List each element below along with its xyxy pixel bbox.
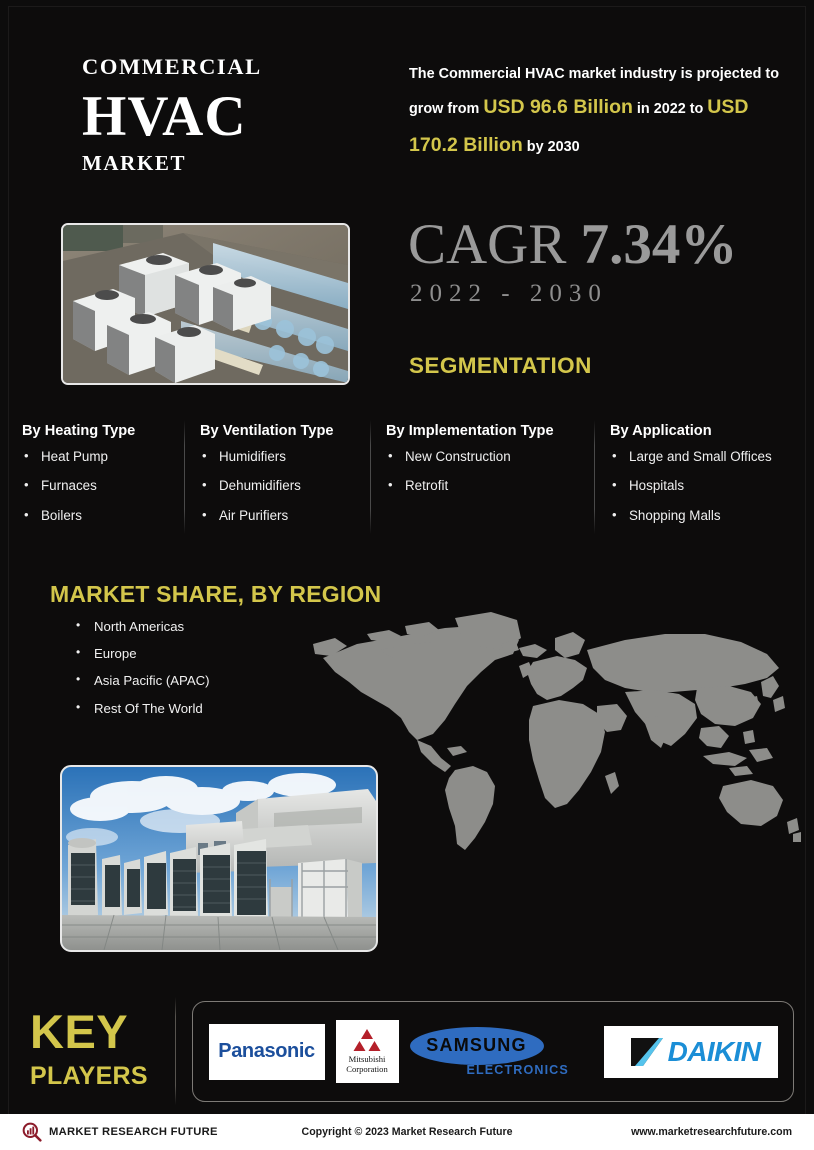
cagr-value: 7.34% (581, 213, 738, 276)
daikin-logo: DAIKIN (604, 1026, 778, 1078)
daikin-wordmark: DAIKIN (668, 1036, 761, 1068)
region-item: Europe (74, 647, 210, 660)
segment-column-ventilation-type: By Ventilation Type Humidifiers Dehumidi… (184, 423, 370, 538)
report-eyebrow: COMMERCIAL (82, 56, 382, 79)
segment-item: Furnaces (22, 479, 170, 492)
samsung-wordmark: SAMSUNG (426, 1035, 526, 1056)
cagr-period: 2022 - 2030 (410, 281, 608, 306)
segment-column-heating-type: By Heating Type Heat Pump Furnaces Boile… (22, 423, 184, 538)
footer-brand-text: MARKET RESEARCH FUTURE (49, 1126, 218, 1138)
segment-item: Boilers (22, 509, 170, 522)
segmentation-heading: SEGMENTATION (409, 353, 592, 379)
mitsubishi-wordmark: Mitsubishi Corporation (346, 1055, 388, 1074)
panasonic-logo: Panasonic (209, 1024, 325, 1080)
world-map-landmass (313, 612, 801, 850)
page-title: HVAC (82, 86, 382, 148)
daikin-flag-icon (629, 1034, 665, 1070)
market-research-future-logo-icon (22, 1122, 42, 1142)
segment-item: Dehumidifiers (200, 479, 356, 492)
cagr-headline: CAGR 7.34% (408, 216, 737, 273)
segment-item: Humidifiers (200, 450, 356, 463)
samsung-logo: SAMSUNG ELECTRONICS (410, 1021, 593, 1083)
segment-column-application: By Application Large and Small Offices H… (594, 423, 794, 538)
key-players-logo-box: Panasonic Mitsubishi Corporation SAMSUNG… (192, 1001, 794, 1102)
footer-website[interactable]: www.marketresearchfuture.com (631, 1126, 792, 1138)
segment-title: By Heating Type (22, 423, 170, 439)
segment-title: By Application (610, 423, 780, 439)
segment-item: New Construction (386, 450, 580, 463)
region-item: Rest Of The World (74, 702, 210, 715)
samsung-ellipse: SAMSUNG (410, 1027, 544, 1065)
segment-column-implementation-type: By Implementation Type New Construction … (370, 423, 594, 538)
segment-title: By Implementation Type (386, 423, 580, 439)
infographic-page: COMMERCIAL HVAC MARKET The Commercial HV… (0, 0, 814, 1150)
key-players-divider (175, 997, 176, 1105)
panasonic-wordmark: Panasonic (218, 1040, 314, 1063)
footer-copyright: Copyright © 2023 Market Research Future (302, 1126, 513, 1138)
market-summary: The Commercial HVAC market industry is p… (409, 60, 801, 164)
mitsubishi-line2: Corporation (346, 1065, 388, 1075)
rooftop-hvac-photo (60, 765, 378, 952)
cooling-towers-photo (61, 223, 350, 385)
mitsubishi-logo: Mitsubishi Corporation (336, 1020, 399, 1083)
cagr-label: CAGR (408, 213, 566, 276)
summary-value-2022: USD 96.6 Billion (483, 96, 633, 118)
samsung-electronics-text: ELECTRONICS (467, 1063, 569, 1077)
mitsubishi-diamond-icon (353, 1028, 381, 1052)
footer-brand: MARKET RESEARCH FUTURE (22, 1122, 218, 1142)
page-footer: MARKET RESEARCH FUTURE Copyright © 2023 … (0, 1114, 814, 1150)
key-players-line2: PLAYERS (30, 1064, 170, 1089)
key-players-label: KEY PLAYERS (30, 1008, 170, 1089)
segmentation-grid: By Heating Type Heat Pump Furnaces Boile… (22, 423, 794, 538)
segment-item: Retrofit (386, 479, 580, 492)
region-item: North Americas (74, 620, 210, 633)
summary-grow-from: grow from (409, 101, 479, 117)
report-subtitle: MARKET (82, 153, 382, 174)
summary-in-2022: in 2022 to (637, 101, 703, 117)
region-list: North Americas Europe Asia Pacific (APAC… (74, 620, 210, 729)
segment-item: Shopping Malls (610, 509, 780, 522)
segment-item: Hospitals (610, 479, 780, 492)
region-item: Asia Pacific (APAC) (74, 674, 210, 687)
summary-by-2030: by 2030 (527, 139, 580, 155)
segment-item: Heat Pump (22, 450, 170, 463)
key-players-line1: KEY (30, 1008, 170, 1055)
segment-item: Air Purifiers (200, 509, 356, 522)
report-title-block: COMMERCIAL HVAC MARKET (82, 56, 382, 174)
segment-item: Large and Small Offices (610, 450, 780, 463)
summary-lead: The Commercial HVAC market industry is p… (409, 66, 779, 82)
world-map (305, 600, 805, 855)
segment-title: By Ventilation Type (200, 423, 356, 439)
